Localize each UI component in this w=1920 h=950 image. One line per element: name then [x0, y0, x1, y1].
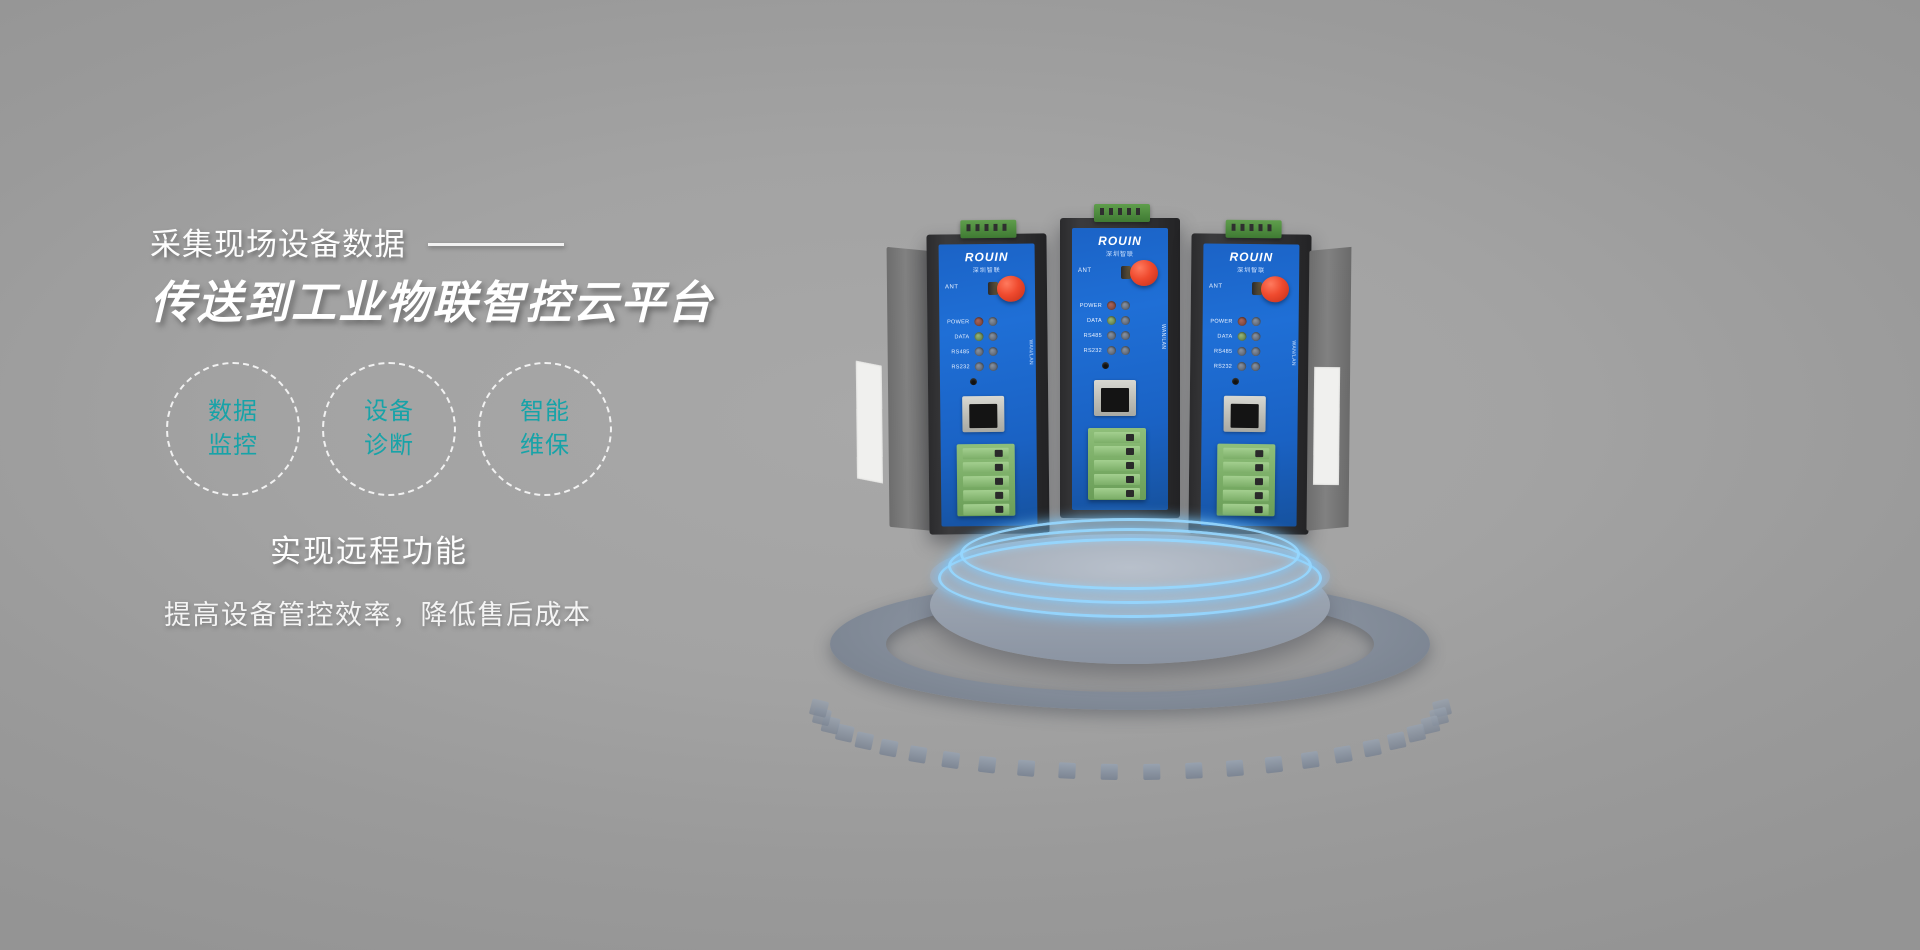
- eyebrow-row: 采集现场设备数据: [150, 222, 890, 266]
- antenna-knob-icon: [1130, 260, 1158, 286]
- led-label: POWER: [1209, 318, 1233, 324]
- brand-subtitle: 深圳智联: [1203, 265, 1299, 275]
- led-rs485-icon: [1237, 347, 1246, 356]
- reset-button[interactable]: [1102, 362, 1109, 369]
- led-secondary-icon: [1251, 362, 1260, 371]
- feature-circle-line-2: 维保: [520, 429, 570, 463]
- device-spec-label: [856, 360, 883, 483]
- brand-logo: ROUIN: [939, 250, 1035, 265]
- eyebrow-rule: [428, 243, 564, 246]
- eyebrow-text: 采集现场设备数据: [150, 229, 406, 260]
- led-secondary-icon: [989, 362, 998, 371]
- led-power-icon: [1107, 301, 1116, 310]
- reset-button[interactable]: [970, 378, 977, 385]
- screw-terminal-block: [957, 444, 1016, 517]
- feature-circle-data-monitoring[interactable]: 数据 监控: [166, 362, 300, 496]
- led-label: RS485: [1208, 348, 1232, 354]
- led-label: RS485: [946, 349, 970, 355]
- iot-gateway-device: ROUIN 深圳智联 ANT POWER DATA: [926, 233, 1049, 534]
- led-row: POWER: [1078, 298, 1162, 313]
- led-row: RS232: [1208, 359, 1292, 375]
- led-indicator-list: POWER DATA RS485: [1078, 298, 1162, 358]
- iot-gateway-device: ROUIN 深圳智联 ANT POWER DATA: [1060, 218, 1180, 518]
- antenna-label: ANT: [1209, 284, 1223, 290]
- glow-ring-inner: [960, 518, 1300, 590]
- ethernet-port: [1094, 380, 1136, 416]
- product-scene: ROUIN 深圳智联 ANT POWER DATA: [800, 190, 1500, 710]
- led-rs485-icon: [1107, 331, 1116, 340]
- led-row: DATA: [1078, 313, 1162, 328]
- led-row: RS485: [1208, 344, 1292, 360]
- feature-circle-line-1: 智能: [520, 395, 570, 429]
- brand-subtitle: 深圳智联: [1072, 249, 1168, 258]
- page-title: 传送到工业物联智控云平台: [150, 278, 890, 328]
- led-secondary-icon: [1121, 346, 1130, 355]
- power-terminal-connector: [1226, 220, 1282, 239]
- feature-circle-group: 数据 监控 设备 诊断 智能 维保: [166, 362, 890, 496]
- device-front-face: ROUIN 深圳智联 ANT POWER DATA: [939, 244, 1038, 527]
- led-rs232-icon: [975, 362, 984, 371]
- power-terminal-connector: [960, 220, 1016, 239]
- device-front-face: ROUIN 深圳智联 ANT POWER DATA: [1072, 228, 1168, 510]
- device-front-face: ROUIN 深圳智联 ANT POWER DATA: [1201, 244, 1300, 527]
- antenna-knob-icon: [1261, 276, 1289, 302]
- led-data-icon: [1107, 316, 1116, 325]
- led-label: POWER: [1078, 303, 1102, 309]
- ethernet-port: [1223, 396, 1265, 432]
- led-indicator-list: POWER DATA RS485: [1208, 314, 1293, 375]
- led-secondary-icon: [1252, 317, 1261, 326]
- led-rs232-icon: [1107, 346, 1116, 355]
- led-secondary-icon: [988, 317, 997, 326]
- led-label: DATA: [945, 334, 969, 340]
- screw-terminal-block: [1217, 444, 1276, 517]
- marketing-banner: 采集现场设备数据 传送到工业物联智控云平台 数据 监控 设备 诊断 智能 维保 …: [0, 0, 1920, 950]
- led-data-icon: [1237, 332, 1246, 341]
- feature-circle-line-1: 数据: [208, 395, 258, 429]
- led-row: RS485: [1078, 328, 1162, 343]
- led-secondary-icon: [1251, 332, 1260, 341]
- screw-terminal-block: [1088, 428, 1146, 500]
- led-data-icon: [974, 332, 983, 341]
- led-secondary-icon: [1121, 331, 1130, 340]
- device-side-panel: [887, 247, 932, 531]
- antenna-label: ANT: [1078, 268, 1092, 274]
- port-side-label: WAN/LAN: [1290, 340, 1296, 365]
- headline-panel: 采集现场设备数据 传送到工业物联智控云平台 数据 监控 设备 诊断 智能 维保 …: [150, 222, 890, 632]
- led-row: DATA: [1208, 329, 1292, 345]
- brand-subtitle: 深圳智联: [939, 265, 1035, 275]
- product-pedestal: [820, 520, 1440, 710]
- device-side-panel: [1306, 247, 1351, 531]
- led-label: RS485: [1078, 333, 1102, 339]
- feature-circle-line-2: 诊断: [364, 429, 414, 463]
- led-secondary-icon: [988, 332, 997, 341]
- led-secondary-icon: [989, 347, 998, 356]
- iot-gateway-device: ROUIN 深圳智联 ANT POWER DATA: [1188, 233, 1311, 534]
- led-power-icon: [1238, 317, 1247, 326]
- led-label: RS232: [1208, 363, 1232, 369]
- led-secondary-icon: [1121, 316, 1130, 325]
- device-spec-label: [1313, 367, 1340, 485]
- supporting-text: 提高设备管控效率，降低售后成本: [164, 593, 890, 632]
- led-rs485-icon: [975, 347, 984, 356]
- antenna-knob-icon: [997, 276, 1025, 302]
- led-label: RS232: [946, 364, 970, 370]
- led-row: RS485: [946, 344, 1030, 360]
- led-row: RS232: [946, 359, 1030, 375]
- antenna-label: ANT: [945, 284, 959, 290]
- device-group: ROUIN 深圳智联 ANT POWER DATA: [928, 206, 1328, 536]
- led-label: DATA: [1208, 333, 1232, 339]
- led-row: DATA: [945, 329, 1029, 345]
- feature-circle-device-diagnosis[interactable]: 设备 诊断: [322, 362, 456, 496]
- led-rs232-icon: [1237, 362, 1246, 371]
- reset-button[interactable]: [1232, 378, 1239, 385]
- led-indicator-list: POWER DATA RS485: [945, 314, 1030, 375]
- feature-circle-line-2: 监控: [208, 429, 258, 463]
- port-side-label: WAN/LAN: [1160, 324, 1166, 349]
- led-row: RS232: [1078, 343, 1162, 358]
- led-label: RS232: [1078, 348, 1102, 354]
- subheading-remote-function: 实现远程功能: [270, 526, 890, 571]
- feature-circle-smart-maintenance[interactable]: 智能 维保: [478, 362, 612, 496]
- power-terminal-connector: [1094, 204, 1150, 222]
- led-row: POWER: [945, 314, 1029, 330]
- led-power-icon: [974, 317, 983, 326]
- feature-circle-line-1: 设备: [364, 395, 414, 429]
- led-row: POWER: [1209, 314, 1293, 330]
- led-label: DATA: [1078, 318, 1102, 324]
- brand-logo: ROUIN: [1203, 250, 1299, 265]
- ethernet-port: [962, 396, 1004, 432]
- port-side-label: WAN/LAN: [1028, 340, 1034, 365]
- led-secondary-icon: [1251, 347, 1260, 356]
- brand-logo: ROUIN: [1072, 234, 1168, 248]
- led-secondary-icon: [1121, 301, 1130, 310]
- led-label: POWER: [945, 319, 969, 325]
